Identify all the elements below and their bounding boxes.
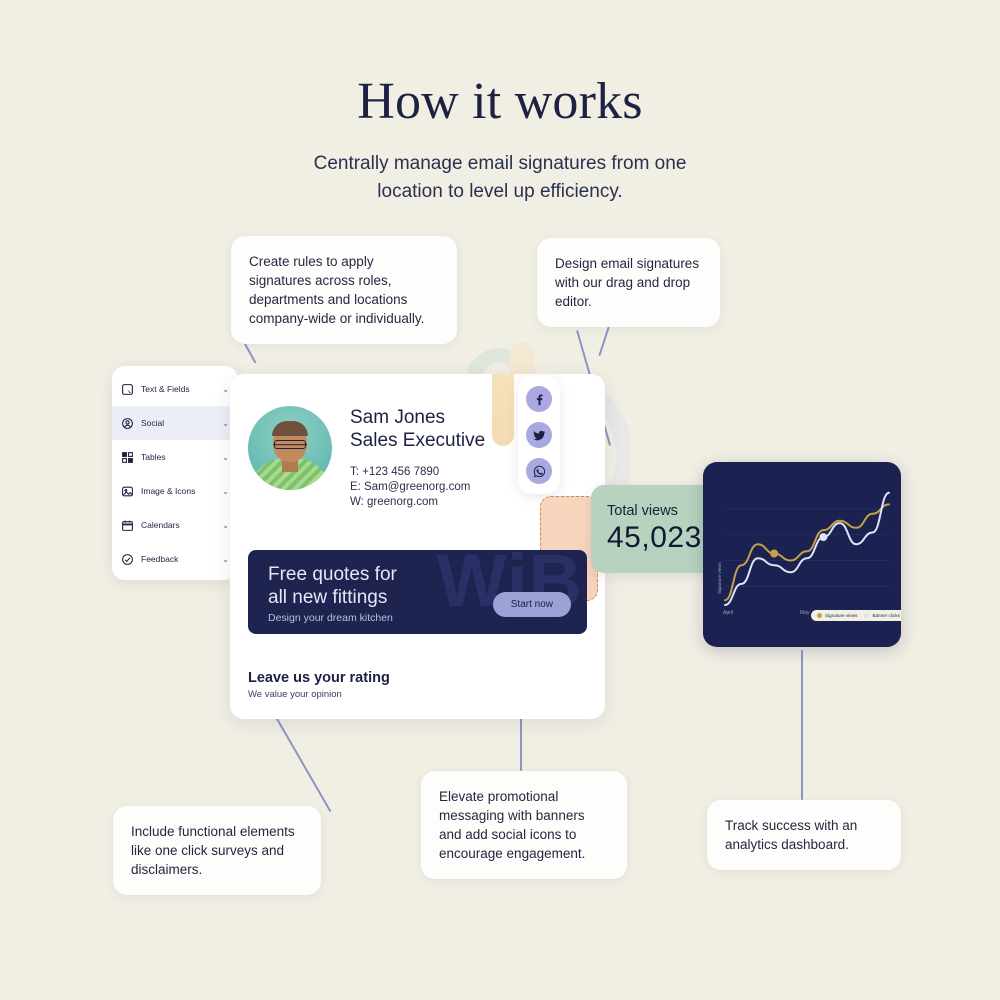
- chevron-down-icon[interactable]: ⌄: [222, 453, 229, 462]
- chart-series-banner-clicks: [725, 493, 889, 605]
- sidebar-item-feedback[interactable]: Feedback ⌄: [112, 542, 238, 576]
- social-icons-strip: [518, 376, 560, 494]
- banner-title-line1: Free quotes for: [268, 563, 397, 586]
- sidebar-item-label: Image & Icons: [141, 486, 215, 496]
- callout-design-signatures: Design email signatures with our drag an…: [537, 238, 720, 327]
- page-subtitle: Centrally manage email signatures from o…: [285, 150, 715, 206]
- legend-label: Banner clicks: [872, 613, 899, 618]
- callout-create-rules: Create rules to apply signatures across …: [231, 236, 457, 344]
- sidebar-item-text-fields[interactable]: Text & Fields ⌄: [112, 372, 238, 406]
- chart-x-tick-1: May: [800, 610, 810, 616]
- chart-x-tick-0: April: [723, 610, 733, 616]
- chart-y-axis-label: Signature views: [717, 561, 722, 594]
- chevron-down-icon[interactable]: ⌄: [222, 555, 229, 564]
- twitter-icon[interactable]: [526, 422, 552, 448]
- connector-line-elements: [267, 703, 331, 812]
- signature-identity: Sam Jones Sales Executive T: +123 456 78…: [248, 406, 485, 510]
- signature-phone: T: +123 456 7890: [350, 465, 485, 480]
- chart-marker-series-1: [819, 533, 827, 541]
- banner-title-line2: all new fittings: [268, 586, 397, 609]
- promotional-banner: WiB Free quotes for all new fittings Des…: [248, 550, 587, 634]
- facebook-icon[interactable]: [526, 386, 552, 412]
- sidebar-item-label: Calendars: [141, 520, 215, 530]
- chevron-down-icon[interactable]: ⌄: [222, 385, 229, 394]
- chart-marker-series-0: [770, 550, 778, 558]
- sidebar-item-label: Tables: [141, 452, 215, 462]
- sidebar-item-tables[interactable]: Tables ⌄: [112, 440, 238, 474]
- rating-block: Leave us your rating We value your opini…: [248, 670, 390, 700]
- start-now-button[interactable]: Start now: [493, 592, 571, 617]
- legend-entry-1: Banner clicks: [864, 613, 899, 618]
- signature-name: Sam Jones: [350, 406, 485, 429]
- signature-role: Sales Executive: [350, 429, 485, 452]
- editor-sidebar: Text & Fields ⌄ Social ⌄ Tables ⌄ Image …: [112, 366, 238, 580]
- chevron-down-icon[interactable]: ⌄: [222, 419, 229, 428]
- rating-subtitle: We value your opinion: [248, 689, 390, 700]
- signature-contact: T: +123 456 7890 E: Sam@greenorg.com W: …: [350, 465, 485, 510]
- signature-editor-card: Sam Jones Sales Executive T: +123 456 78…: [230, 374, 605, 719]
- callout-track-success: Track success with an analytics dashboar…: [707, 800, 901, 870]
- drag-handle-bar[interactable]: [492, 374, 514, 446]
- legend-entry-0: Signature views: [817, 613, 857, 618]
- tables-icon: [121, 451, 134, 464]
- signature-text-block: Sam Jones Sales Executive T: +123 456 78…: [350, 406, 485, 510]
- image-icon: [121, 485, 134, 498]
- signature-website: W: greenorg.com: [350, 495, 485, 510]
- text-fields-icon: [121, 383, 134, 396]
- legend-color-dot: [817, 613, 822, 618]
- sidebar-item-label: Social: [141, 418, 215, 428]
- sidebar-item-social[interactable]: Social ⌄: [112, 406, 238, 440]
- legend-label: Signature views: [825, 613, 857, 618]
- user-circle-icon: [121, 417, 134, 430]
- signature-email: E: Sam@greenorg.com: [350, 480, 485, 495]
- whatsapp-icon[interactable]: [526, 458, 552, 484]
- legend-color-dot: [864, 613, 869, 618]
- sidebar-item-label: Feedback: [141, 554, 215, 564]
- callout-promotional-banners: Elevate promotional messaging with banne…: [421, 771, 627, 879]
- check-circle-icon: [121, 553, 134, 566]
- total-views-value: 45,023: [607, 521, 703, 555]
- sidebar-item-image-icons[interactable]: Image & Icons ⌄: [112, 474, 238, 508]
- total-views-label: Total views: [607, 503, 703, 519]
- chevron-down-icon[interactable]: ⌄: [222, 521, 229, 530]
- rating-title: Leave us your rating: [248, 670, 390, 686]
- total-views-card: Total views 45,023: [591, 485, 719, 573]
- chart-series-signature-views: [725, 504, 889, 600]
- banner-title: Free quotes for all new fittings: [268, 563, 397, 609]
- infographic-canvas: How it works Centrally manage email sign…: [0, 0, 1000, 1000]
- connector-line-track: [801, 650, 803, 800]
- page-title: How it works: [0, 72, 1000, 131]
- sidebar-item-label: Text & Fields: [141, 384, 215, 394]
- chart-legend: Signature views Banner clicks: [811, 610, 901, 621]
- analytics-dashboard-card: Signature views April May June Signature…: [703, 462, 901, 647]
- avatar: [248, 406, 332, 490]
- callout-functional-elements: Include functional elements like one cli…: [113, 806, 321, 895]
- sidebar-item-calendars[interactable]: Calendars ⌄: [112, 508, 238, 542]
- banner-subtitle: Design your dream kitchen: [268, 612, 393, 624]
- chevron-down-icon[interactable]: ⌄: [222, 487, 229, 496]
- calendar-icon: [121, 519, 134, 532]
